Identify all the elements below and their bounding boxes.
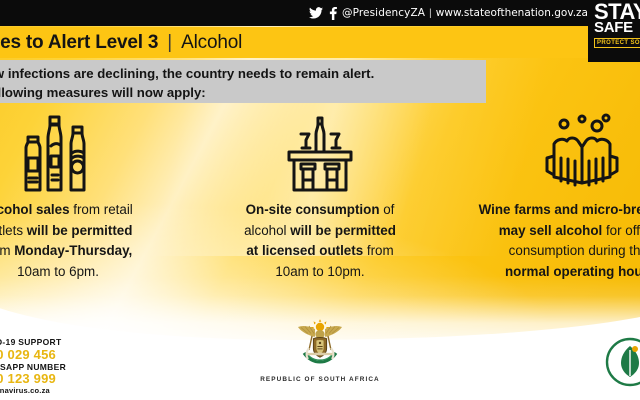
measure-line: outlets will be permitted	[0, 223, 132, 238]
stay-safe-badge: STAY SAFE PROTECT SOUTH AFRICA	[588, 0, 640, 62]
measure-line: alcohol will be permitted	[244, 223, 396, 238]
hotline-website[interactable]: sacoronavirus.co.za	[0, 387, 66, 395]
badge-line-safe: SAFE	[594, 21, 633, 35]
top-social-bar: @PresidencyZA | www.stateofthenation.gov…	[0, 0, 640, 26]
measure-line: consumption during their	[509, 243, 640, 258]
measure-line: Alcohol sales from retail	[0, 202, 133, 217]
title-divider: |	[167, 32, 172, 54]
measure-line: at licensed outlets from	[246, 243, 393, 258]
measure-text-retail-sales: Alcohol sales from retail outlets will b…	[0, 200, 208, 282]
measure-line: 10am to 10pm.	[275, 264, 364, 279]
header-separator: |	[429, 7, 432, 19]
measure-line: Wine farms and micro-breweries	[479, 202, 640, 217]
intro-line-2: The following measures will now apply:	[0, 83, 486, 102]
bar-counter-stools-icon	[212, 108, 428, 200]
measure-text-onsite-consumption: On-site consumption of alcohol will be p…	[212, 200, 428, 282]
intro-banner: As new infections are declining, the cou…	[0, 60, 486, 103]
twitter-bird-icon[interactable]	[309, 7, 323, 19]
title-band: Changes to Alert Level 3 | Alcohol	[0, 27, 594, 58]
measure-text-wine-farms: Wine farms and micro-breweries may sell …	[432, 200, 640, 282]
measure-line: On-site consumption of	[246, 202, 395, 217]
beer-mugs-cheers-icon	[432, 108, 640, 200]
measure-line: from Monday-Thursday,	[0, 243, 132, 258]
measure-line: may sell alcohol for off-site	[499, 223, 640, 238]
measures-columns: Alcohol sales from retail outlets will b…	[0, 108, 640, 308]
page-title: Changes to Alert Level 3	[0, 32, 158, 54]
measure-line: normal operating hours.	[505, 264, 640, 279]
website-url[interactable]: www.stateofthenation.gov.za	[436, 7, 588, 19]
badge-line-protect: PROTECT SOUTH AFRICA	[594, 38, 640, 48]
measure-column-onsite-consumption: On-site consumption of alcohol will be p…	[212, 108, 428, 282]
liquor-bottles-icon	[0, 108, 208, 200]
measure-column-retail-sales: Alcohol sales from retail outlets will b…	[0, 108, 208, 282]
measure-column-wine-farms: Wine farms and micro-breweries may sell …	[432, 108, 640, 282]
green-circle-logo-icon	[604, 336, 640, 393]
facebook-f-icon[interactable]	[329, 7, 337, 20]
presidency-handle[interactable]: @PresidencyZA	[342, 7, 425, 19]
intro-line-1: As new infections are declining, the cou…	[0, 64, 486, 83]
measure-line: 10am to 6pm.	[17, 264, 99, 279]
social-links	[309, 7, 337, 20]
infographic-canvas: @PresidencyZA | www.stateofthenation.gov…	[0, 0, 640, 400]
south-africa-coat-of-arms-icon	[291, 318, 349, 373]
coat-of-arms-label: REPUBLIC OF SOUTH AFRICA	[260, 376, 380, 383]
coat-of-arms-block: REPUBLIC OF SOUTH AFRICA	[0, 318, 640, 383]
page-subtitle: Alcohol	[181, 32, 242, 54]
